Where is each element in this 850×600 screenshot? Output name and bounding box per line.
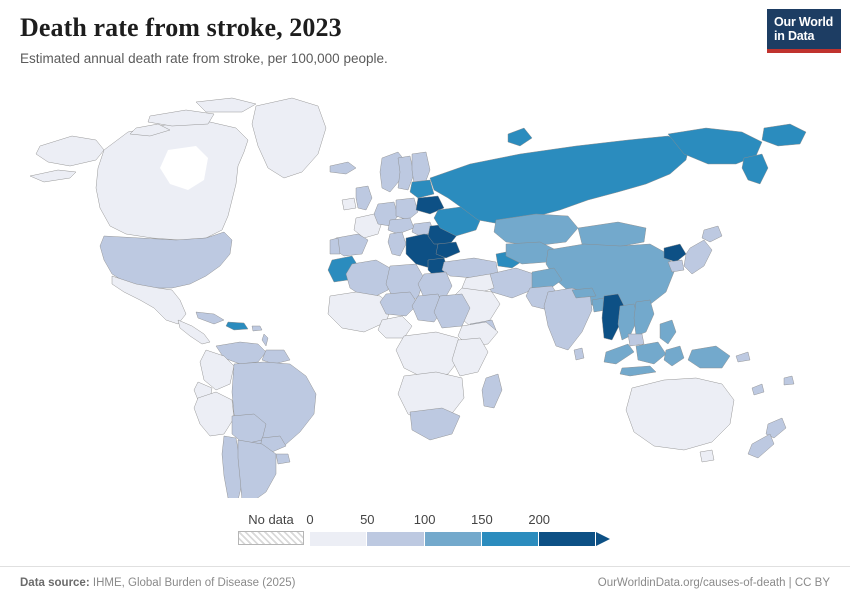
- country-bulgaria[interactable]: [436, 242, 460, 258]
- country-aleutians[interactable]: [30, 170, 76, 182]
- country-solomon-islands[interactable]: [736, 352, 750, 362]
- country-poland[interactable]: [396, 198, 418, 220]
- country-new-caledonia[interactable]: [752, 384, 764, 395]
- page-title: Death rate from stroke, 2023: [20, 12, 830, 44]
- legend-ramp-block: 050100150200: [310, 512, 628, 546]
- country-papua-new-guinea[interactable]: [688, 346, 730, 368]
- country-philippines[interactable]: [660, 320, 676, 344]
- country-niger[interactable]: [380, 292, 418, 316]
- country-east-africa[interactable]: [452, 338, 488, 376]
- logo-line-2: in Data: [774, 29, 841, 43]
- legend-tick-3: 150: [471, 512, 493, 528]
- country-vietnam[interactable]: [634, 300, 654, 336]
- country-russia[interactable]: [430, 136, 690, 224]
- country-indonesia-borneo[interactable]: [636, 342, 666, 364]
- country-nepal[interactable]: [572, 288, 596, 298]
- country-iceland[interactable]: [330, 162, 356, 174]
- legend-bin-2[interactable]: [425, 532, 482, 546]
- country-kamchatka[interactable]: [742, 154, 768, 184]
- map-legend: No data 050100150200: [0, 508, 850, 556]
- legend-arrow-icon: [596, 532, 610, 546]
- country-hispaniola[interactable]: [226, 322, 248, 330]
- legend-color-ramp[interactable]: [310, 532, 628, 546]
- country-canada-arctic-2[interactable]: [196, 98, 256, 112]
- legend-ticks: 050100150200: [310, 512, 628, 529]
- legend-bin-3[interactable]: [482, 532, 539, 546]
- data-source-prefix: Data source:: [20, 577, 90, 589]
- legend-no-data-label: No data: [238, 512, 304, 528]
- country-hokkaido[interactable]: [702, 226, 722, 242]
- owid-logo[interactable]: Our World in Data: [767, 9, 841, 53]
- data-source: Data source: IHME, Global Burden of Dise…: [20, 577, 296, 589]
- country-madagascar[interactable]: [482, 374, 502, 408]
- country-antilles-arc[interactable]: [262, 334, 268, 346]
- chart-header: Death rate from stroke, 2023 Estimated a…: [20, 12, 830, 76]
- chart-subtitle: Estimated annual death rate from stroke,…: [20, 49, 830, 69]
- owid-map-chart: Death rate from stroke, 2023 Estimated a…: [0, 0, 850, 600]
- country-chukotka[interactable]: [762, 124, 806, 146]
- country-central-europe[interactable]: [388, 218, 414, 234]
- country-indonesia-sumatra[interactable]: [604, 344, 634, 364]
- country-sudan[interactable]: [434, 294, 470, 328]
- country-guyana-suriname[interactable]: [262, 350, 290, 364]
- legend-tick-4: 200: [528, 512, 550, 528]
- country-indonesia-sulawesi[interactable]: [664, 346, 684, 366]
- country-alaska[interactable]: [36, 136, 104, 166]
- legend-no-data-swatch: [238, 531, 304, 545]
- country-indonesia-java[interactable]: [620, 366, 656, 376]
- country-cuba[interactable]: [196, 312, 224, 324]
- country-australia[interactable]: [626, 378, 734, 450]
- country-malaysia[interactable]: [628, 334, 644, 346]
- chart-footer: Data source: IHME, Global Burden of Dise…: [0, 566, 850, 600]
- data-source-text: IHME, Global Burden of Disease (2025): [93, 577, 296, 589]
- country-sri-lanka[interactable]: [574, 348, 584, 360]
- legend-bin-4[interactable]: [539, 532, 596, 546]
- country-tasmania[interactable]: [700, 450, 714, 462]
- country-italy[interactable]: [388, 232, 406, 256]
- legend-tick-0: 0: [306, 512, 313, 528]
- country-new-zealand-south[interactable]: [748, 434, 774, 458]
- country-canada-arctic-1[interactable]: [148, 110, 214, 126]
- legend-bin-1[interactable]: [367, 532, 424, 546]
- logo-line-1: Our World: [774, 15, 841, 29]
- country-central-america[interactable]: [178, 320, 210, 344]
- country-south-africa[interactable]: [410, 408, 460, 440]
- country-peru[interactable]: [194, 392, 234, 436]
- country-united-kingdom[interactable]: [356, 186, 372, 210]
- chart-credit[interactable]: OurWorldinData.org/causes-of-death | CC …: [598, 577, 830, 589]
- country-novaya-zemlya[interactable]: [508, 128, 532, 146]
- country-japan[interactable]: [684, 240, 712, 274]
- country-baltics[interactable]: [410, 180, 434, 198]
- country-kazakhstan[interactable]: [494, 214, 578, 246]
- country-fiji[interactable]: [784, 376, 794, 385]
- country-uruguay[interactable]: [276, 454, 290, 464]
- world-map[interactable]: [0, 88, 850, 498]
- legend-bin-0[interactable]: [310, 532, 367, 546]
- legend-tick-2: 100: [414, 512, 436, 528]
- country-lesser-antilles[interactable]: [252, 326, 262, 331]
- country-drc[interactable]: [396, 332, 462, 378]
- country-north-korea[interactable]: [664, 244, 686, 262]
- country-ireland[interactable]: [342, 198, 356, 210]
- legend-tick-1: 50: [360, 512, 374, 528]
- legend-no-data[interactable]: No data: [238, 512, 304, 545]
- country-portugal[interactable]: [330, 238, 340, 254]
- country-greenland[interactable]: [252, 98, 326, 178]
